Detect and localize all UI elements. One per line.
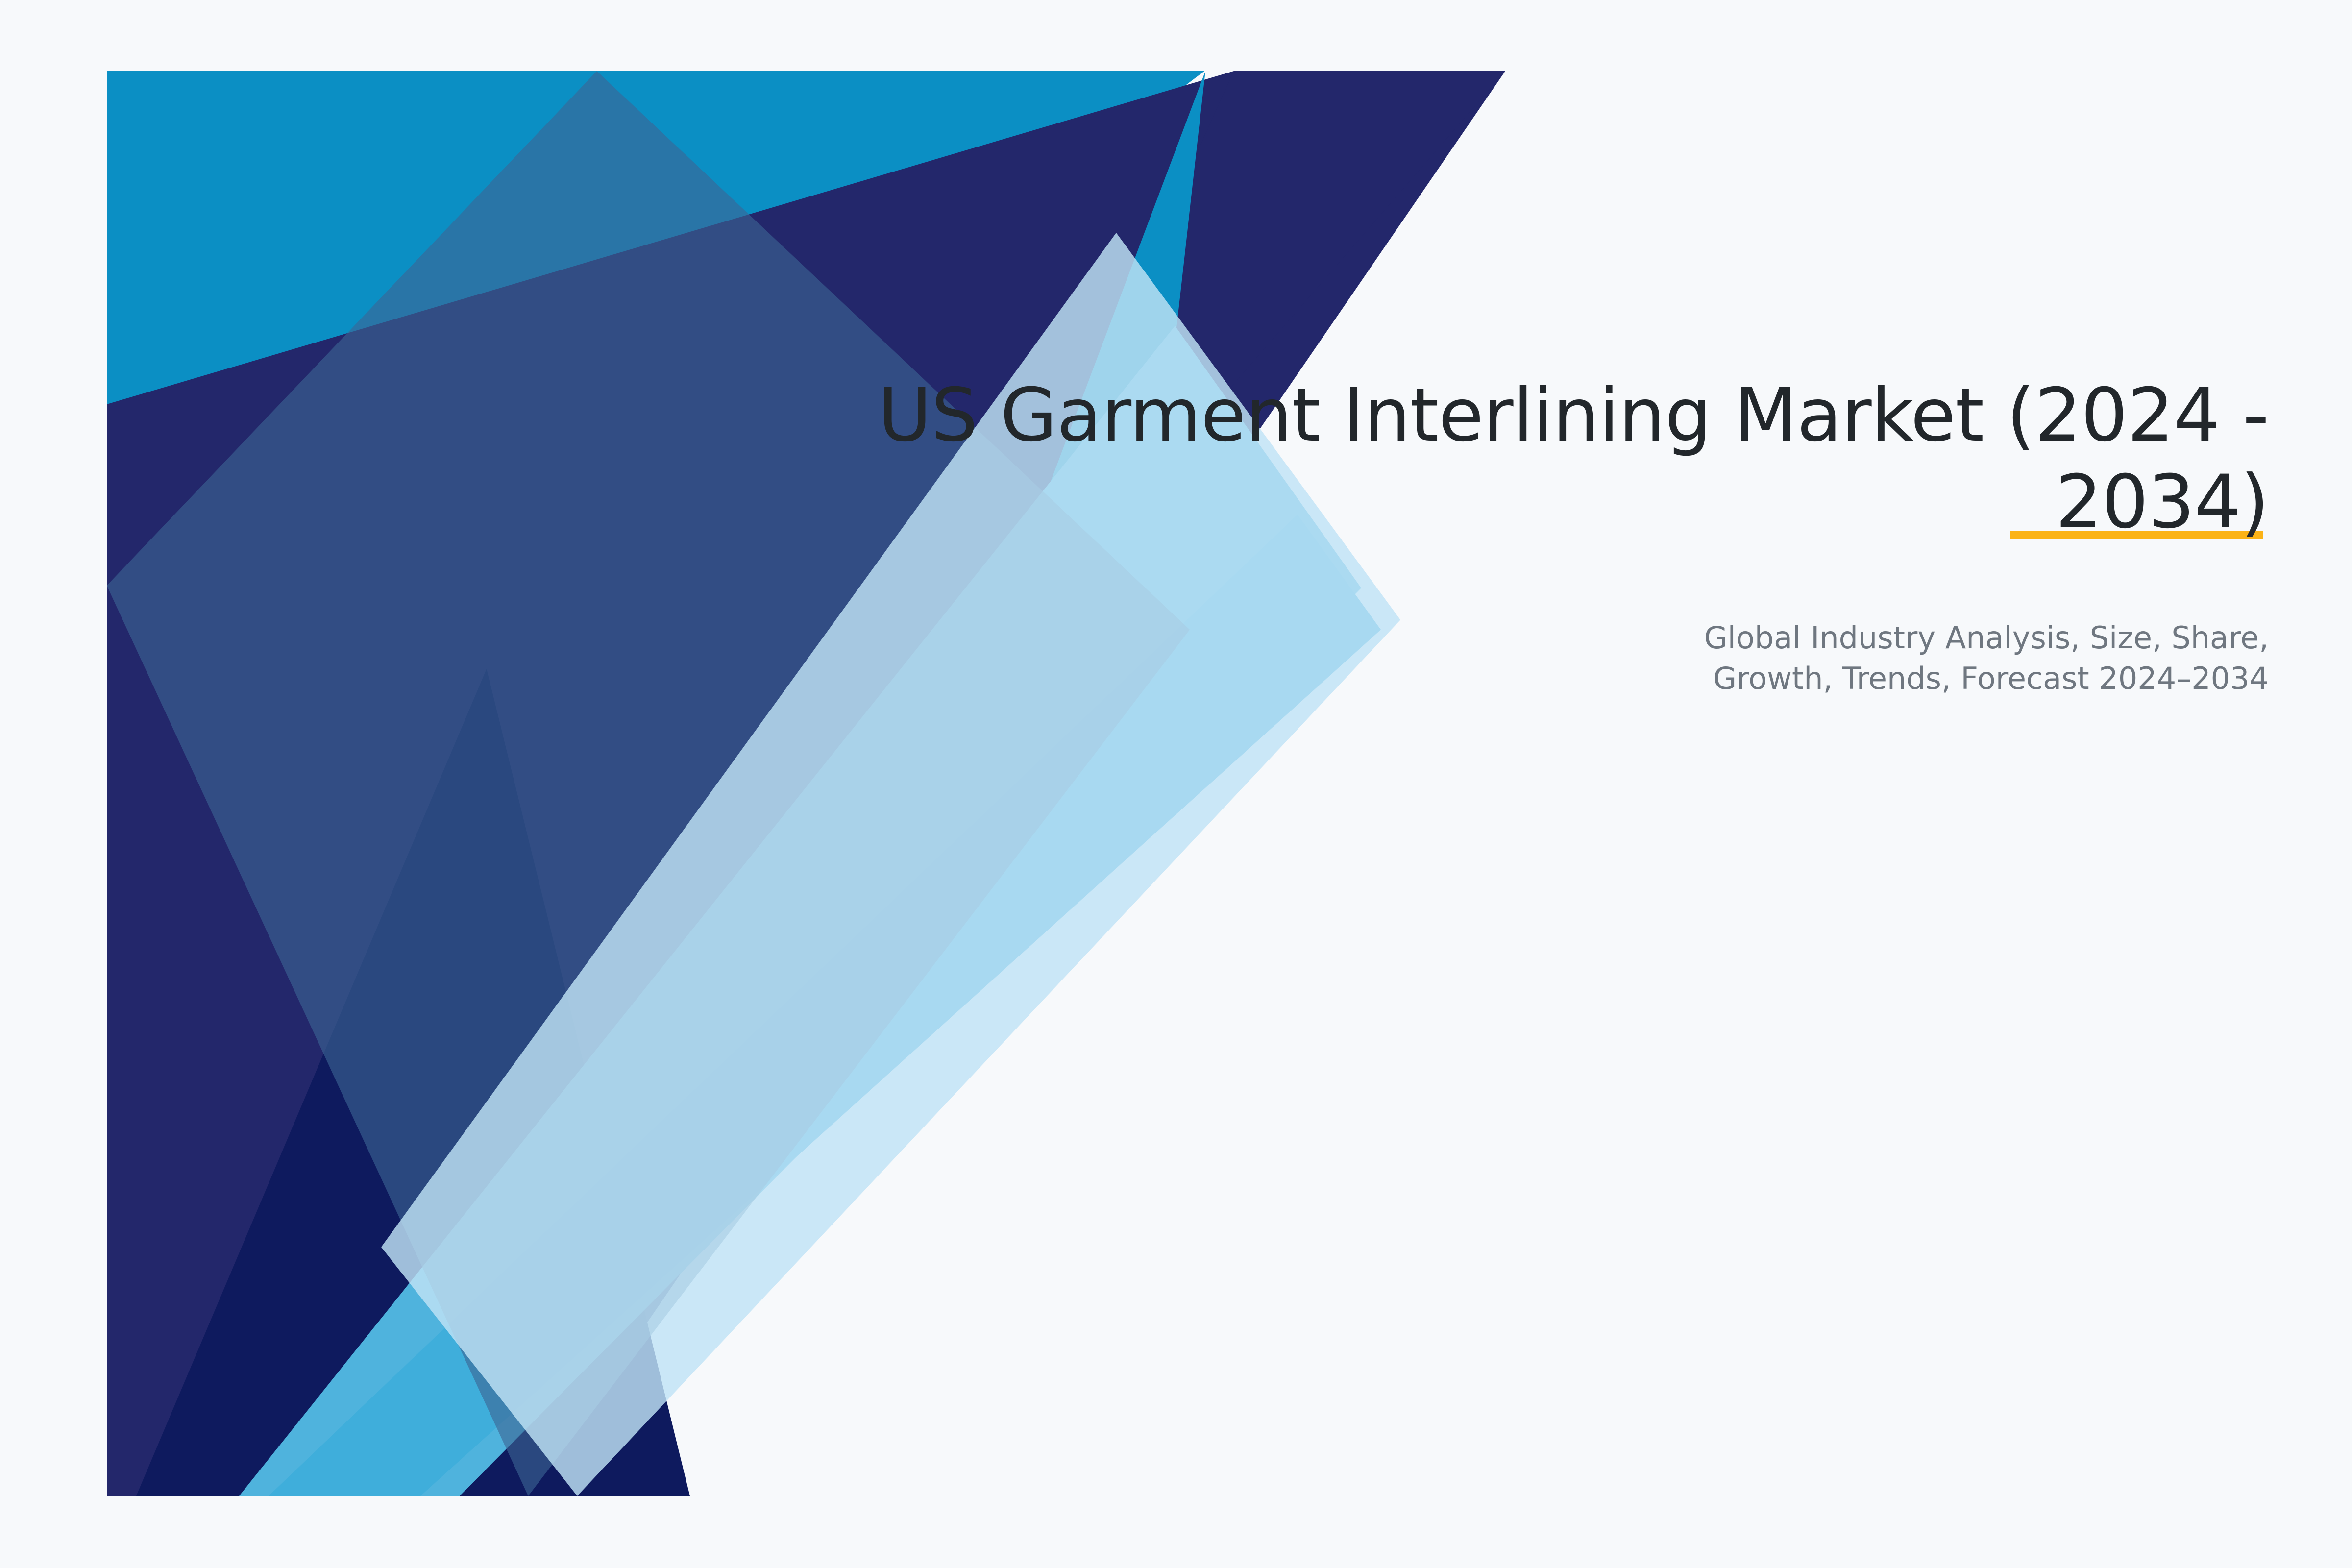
cover-artwork: [107, 71, 1508, 1496]
page-title: US Garment Interlining Market (2024 - 20…: [804, 372, 2269, 546]
cover-page: US Garment Interlining Market (2024 - 20…: [0, 0, 2352, 1568]
cover-text-column: US Garment Interlining Market (2024 - 20…: [804, 372, 2269, 699]
page-subtitle: Global Industry Analysis, Size, Share, G…: [804, 546, 2269, 699]
artwork-svg: [107, 71, 1508, 1496]
title-wrapper: US Garment Interlining Market (2024 - 20…: [804, 372, 2269, 546]
